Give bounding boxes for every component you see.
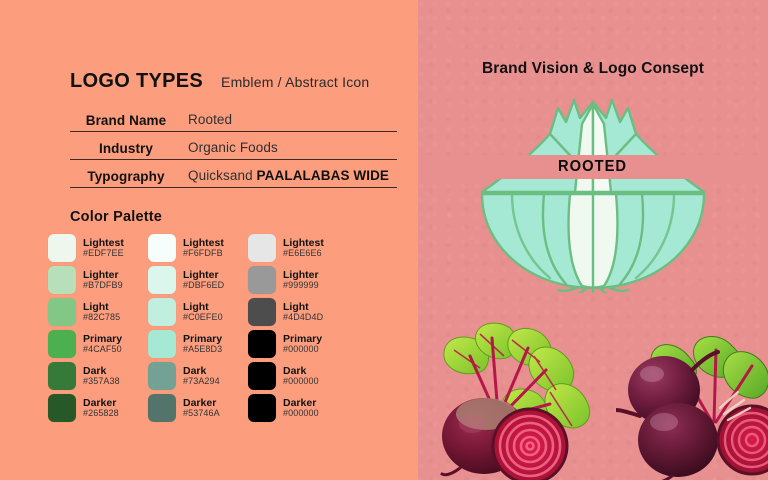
list-item: Light #4D4D4D bbox=[248, 296, 358, 328]
color-swatch bbox=[48, 330, 76, 358]
left-panel: LOGO TYPES Emblem / Abstract Icon Brand … bbox=[0, 0, 418, 480]
color-swatch bbox=[148, 394, 176, 422]
color-swatch bbox=[48, 266, 76, 294]
spec-value: Quicksand PAALALABAS WIDE bbox=[182, 168, 389, 187]
color-swatch bbox=[248, 298, 276, 326]
beet-with-greens-left bbox=[418, 318, 608, 480]
swatch-text: Lighter #B7DFB9 bbox=[83, 270, 123, 290]
swatch-text: Primary #4CAF50 bbox=[83, 334, 122, 354]
spec-key: Industry bbox=[70, 141, 182, 159]
spec-value: Organic Foods bbox=[182, 140, 278, 159]
swatch-hex: #265828 bbox=[83, 409, 119, 418]
swatch-text: Lightest #F6FDFB bbox=[183, 238, 224, 258]
list-item: Lightest #E6E6E6 bbox=[248, 232, 358, 264]
list-item: Dark #73A294 bbox=[148, 360, 248, 392]
swatch-text: Primary #000000 bbox=[283, 334, 322, 354]
swatch-hex: #000000 bbox=[283, 377, 319, 386]
swatch-hex: #999999 bbox=[283, 281, 319, 290]
swatch-hex: #357A38 bbox=[83, 377, 120, 386]
color-palette-heading: Color Palette bbox=[70, 209, 162, 225]
list-item: Dark #357A38 bbox=[48, 360, 148, 392]
swatch-hex: #000000 bbox=[283, 409, 319, 418]
swatch-hex: #4D4D4D bbox=[283, 313, 323, 322]
swatch-text: Dark #000000 bbox=[283, 366, 319, 386]
swatch-hex: #E6E6E6 bbox=[283, 249, 324, 258]
spec-table: Brand Name Rooted Industry Organic Foods… bbox=[70, 104, 397, 188]
color-swatch bbox=[248, 266, 276, 294]
list-item: Primary #A5E8D3 bbox=[148, 328, 248, 360]
spec-value-text: Quicksand bbox=[188, 168, 257, 183]
color-swatch bbox=[248, 394, 276, 422]
color-palette: Lightest #EDF7EE Lighter #B7DFB9 Light bbox=[48, 232, 358, 424]
swatch-text: Light #4D4D4D bbox=[283, 302, 323, 322]
swatch-text: Lightest #EDF7EE bbox=[83, 238, 124, 258]
color-swatch bbox=[148, 234, 176, 262]
list-item: Lightest #F6FDFB bbox=[148, 232, 248, 264]
swatch-text: Dark #357A38 bbox=[83, 366, 120, 386]
swatch-hex: #C0EFE0 bbox=[183, 313, 223, 322]
swatch-hex: #53746A bbox=[183, 409, 220, 418]
brand-board: LOGO TYPES Emblem / Abstract Icon Brand … bbox=[0, 0, 768, 480]
table-row: Industry Organic Foods bbox=[70, 132, 397, 160]
color-swatch bbox=[48, 394, 76, 422]
spec-value-text: Organic Foods bbox=[188, 140, 278, 155]
palette-column-teal: Lightest #F6FDFB Lighter #DBF6ED Light bbox=[148, 232, 248, 424]
color-swatch bbox=[48, 234, 76, 262]
beet-cluster-right bbox=[616, 330, 768, 480]
swatch-hex: #B7DFB9 bbox=[83, 281, 123, 290]
swatch-text: Lighter #DBF6ED bbox=[183, 270, 224, 290]
swatch-hex: #73A294 bbox=[183, 377, 220, 386]
list-item: Light #82C785 bbox=[48, 296, 148, 328]
palette-column-neutral: Lightest #E6E6E6 Lighter #999999 Light bbox=[248, 232, 358, 424]
onion-bulb-icon bbox=[474, 88, 712, 293]
list-item: Lightest #EDF7EE bbox=[48, 232, 148, 264]
palette-column-green: Lightest #EDF7EE Lighter #B7DFB9 Light bbox=[48, 232, 148, 424]
list-item: Darker #53746A bbox=[148, 392, 248, 424]
swatch-hex: #000000 bbox=[283, 345, 322, 354]
swatch-text: Darker #000000 bbox=[283, 398, 319, 418]
list-item: Light #C0EFE0 bbox=[148, 296, 248, 328]
spec-value: Rooted bbox=[182, 112, 232, 131]
color-swatch bbox=[248, 234, 276, 262]
spec-key: Typography bbox=[70, 169, 182, 187]
color-swatch bbox=[248, 330, 276, 358]
swatch-text: Primary #A5E8D3 bbox=[183, 334, 222, 354]
list-item: Lighter #DBF6ED bbox=[148, 264, 248, 296]
swatch-text: Darker #265828 bbox=[83, 398, 119, 418]
list-item: Lighter #B7DFB9 bbox=[48, 264, 148, 296]
color-swatch bbox=[148, 298, 176, 326]
swatch-hex: #DBF6ED bbox=[183, 281, 224, 290]
page-title: LOGO TYPES bbox=[70, 70, 203, 93]
swatch-hex: #A5E8D3 bbox=[183, 345, 222, 354]
brand-vision-title: Brand Vision & Logo Consept bbox=[418, 60, 768, 78]
logo-wordmark-text: ROOTED bbox=[558, 158, 627, 176]
color-swatch bbox=[148, 362, 176, 390]
swatch-text: Light #82C785 bbox=[83, 302, 120, 322]
list-item: Darker #000000 bbox=[248, 392, 358, 424]
spec-value-strong: PAALALABAS WIDE bbox=[257, 168, 390, 183]
spec-key: Brand Name bbox=[70, 113, 182, 131]
list-item: Darker #265828 bbox=[48, 392, 148, 424]
logo-wordmark: ROOTED bbox=[418, 155, 768, 179]
color-swatch bbox=[48, 362, 76, 390]
swatch-text: Lighter #999999 bbox=[283, 270, 319, 290]
color-swatch bbox=[248, 362, 276, 390]
swatch-text: Lightest #E6E6E6 bbox=[283, 238, 324, 258]
swatch-hex: #82C785 bbox=[83, 313, 120, 322]
list-item: Primary #4CAF50 bbox=[48, 328, 148, 360]
logo-types-heading: LOGO TYPES Emblem / Abstract Icon bbox=[70, 70, 400, 98]
swatch-text: Light #C0EFE0 bbox=[183, 302, 223, 322]
swatch-text: Dark #73A294 bbox=[183, 366, 220, 386]
swatch-hex: #EDF7EE bbox=[83, 249, 124, 258]
color-swatch bbox=[148, 266, 176, 294]
right-panel: Brand Vision & Logo Consept bbox=[418, 0, 768, 480]
table-row: Brand Name Rooted bbox=[70, 104, 397, 132]
list-item: Lighter #999999 bbox=[248, 264, 358, 296]
table-row: Typography Quicksand PAALALABAS WIDE bbox=[70, 160, 397, 188]
color-swatch bbox=[148, 330, 176, 358]
swatch-hex: #F6FDFB bbox=[183, 249, 224, 258]
page-subtitle: Emblem / Abstract Icon bbox=[221, 74, 369, 90]
list-item: Primary #000000 bbox=[248, 328, 358, 360]
swatch-hex: #4CAF50 bbox=[83, 345, 122, 354]
color-swatch bbox=[48, 298, 76, 326]
swatch-text: Darker #53746A bbox=[183, 398, 220, 418]
spec-value-text: Rooted bbox=[188, 112, 232, 127]
list-item: Dark #000000 bbox=[248, 360, 358, 392]
